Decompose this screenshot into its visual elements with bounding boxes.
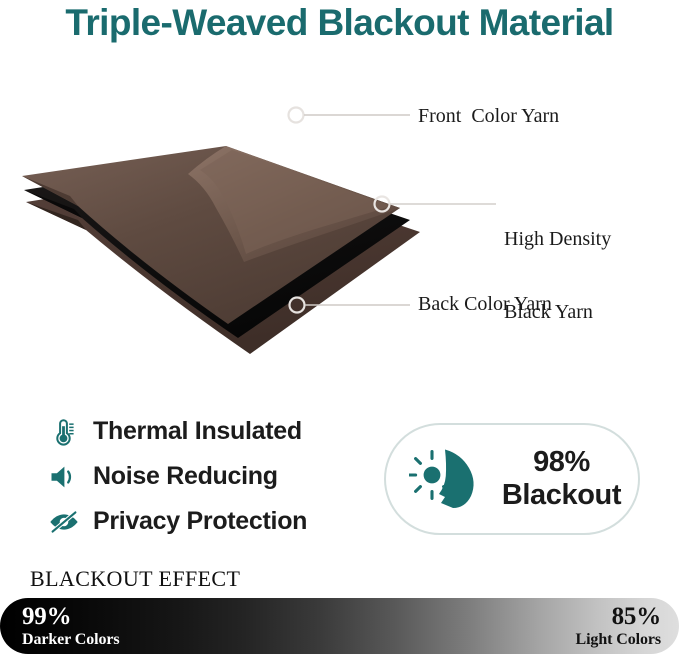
- badge-text: 98% Blackout: [497, 446, 638, 512]
- feature-label-thermal-insulated: Thermal Insulated: [93, 417, 302, 446]
- speaker-icon: [44, 460, 84, 494]
- gradient-bar-left-stat: 99% Darker Colors: [22, 604, 232, 650]
- gradient-bar-right-label: Light Colors: [451, 630, 661, 650]
- gradient-bar-left-label: Darker Colors: [22, 630, 232, 650]
- label-front-color-yarn: Front Color Yarn: [418, 104, 559, 128]
- badge-percent: 98%: [497, 446, 626, 479]
- gradient-bar-left-percent: 99%: [22, 604, 232, 630]
- label-high-density-black-yarn-line1: High Density: [504, 227, 611, 251]
- callout-dot-front: [289, 108, 304, 123]
- feature-label-noise-reducing: Noise Reducing: [93, 462, 278, 491]
- feature-thermal-insulated: Thermal Insulated: [44, 409, 354, 454]
- blackout-effect-title: BLACKOUT EFFECT: [30, 566, 240, 592]
- blackout-badge: 98% Blackout: [384, 423, 640, 535]
- gradient-bar-right-percent: 85%: [451, 604, 661, 630]
- blackout-effect-section: BLACKOUT EFFECT 99% Darker Colors 85% Li…: [0, 566, 679, 655]
- sun-curtain-icon: [409, 446, 481, 512]
- page-title: Triple-Weaved Blackout Material: [0, 2, 679, 44]
- thermometer-icon: [44, 415, 84, 449]
- fabric-layers-diagram: Front Color Yarn High Density Black Yarn…: [0, 62, 679, 362]
- label-back-color-yarn: Back Color Yarn: [418, 292, 552, 316]
- feature-label-privacy-protection: Privacy Protection: [93, 507, 307, 536]
- badge-label: Blackout: [497, 479, 626, 512]
- feature-privacy-protection: Privacy Protection: [44, 499, 354, 544]
- features-list: Thermal Insulated Noise Reducing Privacy…: [44, 409, 354, 544]
- callout-front: [289, 108, 411, 123]
- label-high-density-black-yarn: High Density Black Yarn: [504, 178, 611, 373]
- feature-noise-reducing: Noise Reducing: [44, 454, 354, 499]
- gradient-bar-right-stat: 85% Light Colors: [451, 604, 661, 650]
- eye-off-icon: [44, 505, 84, 539]
